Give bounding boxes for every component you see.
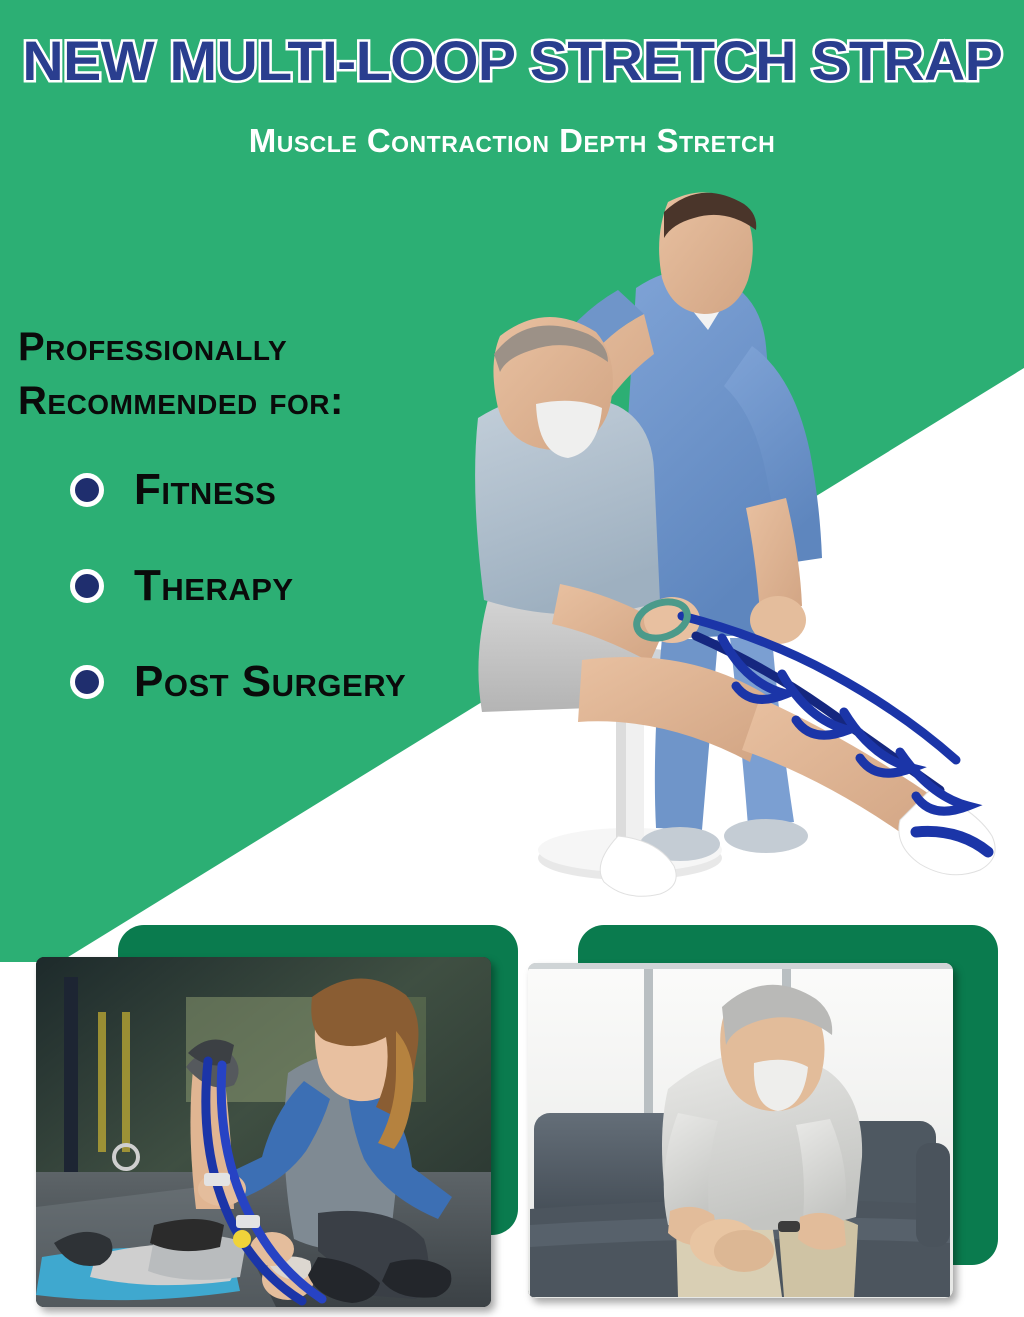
photo-card-knee-pain <box>518 925 1008 1310</box>
list-item-therapy: Therapy <box>70 561 406 611</box>
bullet-dot-icon <box>70 473 104 507</box>
list-item-label: Fitness <box>134 465 276 515</box>
recommendation-heading: Professionally Recommended for: <box>18 320 344 428</box>
bullet-dot-icon <box>70 665 104 699</box>
photo-card-gym-stretch <box>18 925 518 1310</box>
list-item-post-surgery: Post Surgery <box>70 657 406 707</box>
sub-title-container: Muscle Contraction Depth Stretch <box>0 122 1024 160</box>
list-item-label: Therapy <box>134 561 294 611</box>
photo-senior-with-knee-pain <box>528 963 953 1298</box>
bullet-dot-icon <box>70 569 104 603</box>
list-item-fitness: Fitness <box>70 465 406 515</box>
recommendation-heading-line-1: Professionally <box>18 320 344 374</box>
list-item-label: Post Surgery <box>134 657 406 707</box>
page-title: NEW MULTI-LOOP STRETCH STRAP <box>22 28 1002 93</box>
photo-trainer-stretching-client <box>36 957 491 1307</box>
main-title-container: NEW MULTI-LOOP STRETCH STRAP <box>0 28 1024 93</box>
recommendation-heading-line-2: Recommended for: <box>18 374 344 428</box>
hero-image-therapist-and-patient <box>430 168 1024 928</box>
poster-root: NEW MULTI-LOOP STRETCH STRAP Muscle Cont… <box>0 0 1024 1317</box>
benefits-list: Fitness Therapy Post Surgery <box>70 465 406 753</box>
page-subtitle: Muscle Contraction Depth Stretch <box>249 122 776 160</box>
